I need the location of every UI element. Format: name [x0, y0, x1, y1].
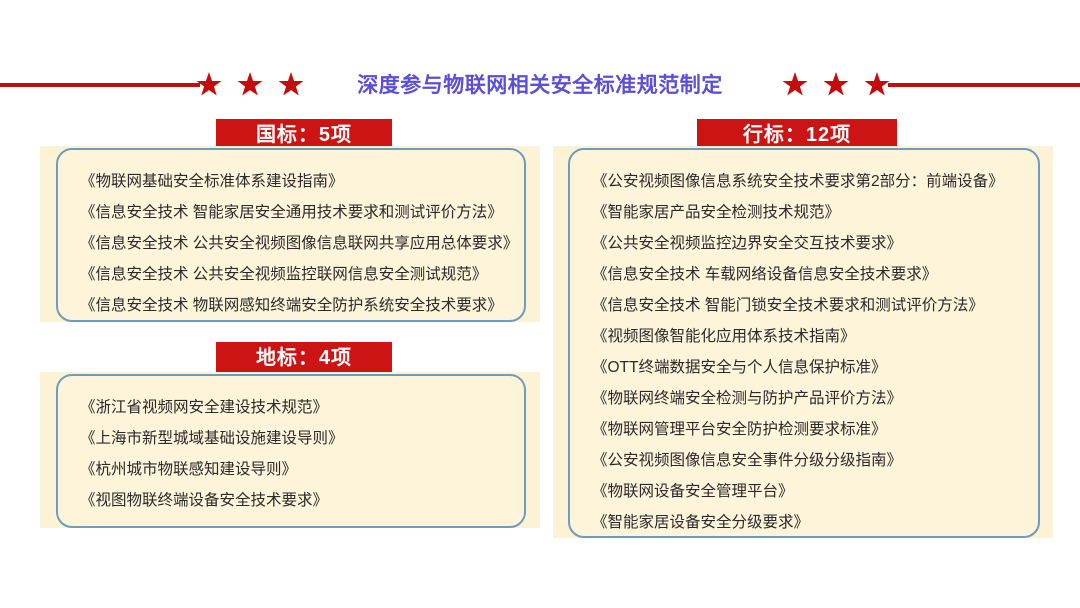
- local-standards-list: 《浙江省视频网安全建设技术规范》 《上海市新型城域基础设施建设导则》 《杭州城市…: [58, 376, 524, 532]
- star-icon: [782, 72, 808, 98]
- national-standards-panel: 《物联网基础安全标准体系建设指南》 《信息安全技术 智能家居安全通用技术要求和测…: [56, 148, 526, 322]
- list-item: 《浙江省视频网安全建设技术规范》: [80, 392, 502, 423]
- list-item: 《物联网管理平台安全防护检测要求标准》: [592, 414, 1016, 445]
- list-item: 《公安视频图像信息安全事件分级分级指南》: [592, 445, 1016, 476]
- list-item: 《视频图像智能化应用体系技术指南》: [592, 321, 1016, 352]
- list-item: 《公安视频图像信息系统安全技术要求第2部分：前端设备》: [592, 166, 1016, 197]
- badge-local-standards: 地标：4项: [216, 342, 392, 374]
- list-item: 《智能家居产品安全检测技术规范》: [592, 197, 1016, 228]
- national-standards-list: 《物联网基础安全标准体系建设指南》 《信息安全技术 智能家居安全通用技术要求和测…: [58, 150, 524, 337]
- page-header: 深度参与物联网相关安全标准规范制定: [0, 62, 1080, 110]
- star-icon: [823, 72, 849, 98]
- local-standards-panel: 《浙江省视频网安全建设技术规范》 《上海市新型城域基础设施建设导则》 《杭州城市…: [56, 374, 526, 528]
- list-item: 《信息安全技术 公共安全视频监控联网信息安全测试规范》: [80, 259, 502, 290]
- star-group-right: [782, 72, 890, 98]
- list-item: 《信息安全技术 车载网络设备信息安全技术要求》: [592, 259, 1016, 290]
- list-item: 《信息安全技术 智能门锁安全技术要求和测试评价方法》: [592, 290, 1016, 321]
- list-item: 《物联网终端安全检测与防护产品评价方法》: [592, 383, 1016, 414]
- star-icon: [864, 72, 890, 98]
- list-item: 《OTT终端数据安全与个人信息保护标准》: [592, 352, 1016, 383]
- header-rule-right: [888, 83, 1080, 87]
- list-item: 《物联网设备安全管理平台》: [592, 476, 1016, 507]
- list-item: 《视图物联终端设备安全技术要求》: [80, 485, 502, 516]
- industry-standards-panel: 《公安视频图像信息系统安全技术要求第2部分：前端设备》 《智能家居产品安全检测技…: [568, 148, 1040, 538]
- list-item: 《信息安全技术 物联网感知终端安全防护系统安全技术要求》: [80, 290, 502, 321]
- list-item: 《物联网基础安全标准体系建设指南》: [80, 166, 502, 197]
- industry-standards-list: 《公安视频图像信息系统安全技术要求第2部分：前端设备》 《智能家居产品安全检测技…: [570, 150, 1038, 554]
- list-item: 《公共安全视频监控边界安全交互技术要求》: [592, 228, 1016, 259]
- list-item: 《信息安全技术 公共安全视频图像信息联网共享应用总体要求》: [80, 228, 502, 259]
- list-item: 《智能家居设备安全分级要求》: [592, 507, 1016, 538]
- list-item: 《杭州城市物联感知建设导则》: [80, 454, 502, 485]
- list-item: 《信息安全技术 智能家居安全通用技术要求和测试评价方法》: [80, 197, 502, 228]
- list-item: 《上海市新型城域基础设施建设导则》: [80, 423, 502, 454]
